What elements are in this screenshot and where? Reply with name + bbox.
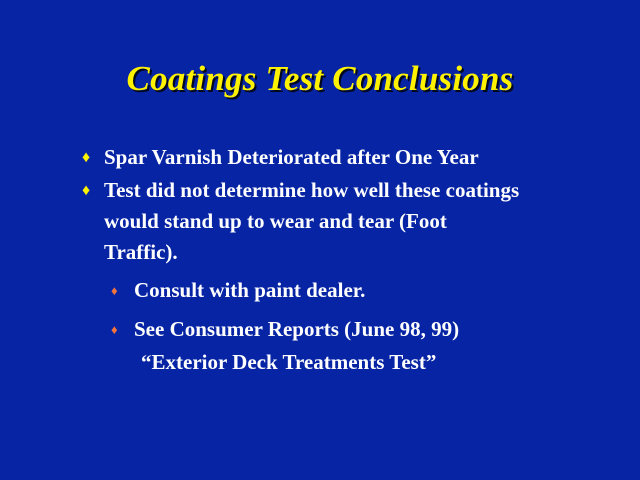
bullet-item-2: ♦ Test did not determine how well these … [78,175,588,268]
bullet-text-line: Spar Varnish Deteriorated after One Year [104,142,588,173]
diamond-bullet-icon: ♦ [82,175,90,206]
sub-bullet-text-line: See Consumer Reports (June 98, 99) [134,313,588,346]
slide-title: Coatings Test Conclusions [0,58,640,100]
sub-bullet-text-line: “Exterior Deck Treatments Test” [134,346,588,379]
diamond-sub-bullet-icon: ♦ [111,274,118,307]
presentation-slide: Coatings Test Conclusions ♦ Spar Varnish… [0,0,640,480]
sub-bullet-item-2: ♦ See Consumer Reports (June 98, 99) “Ex… [78,313,588,379]
slide-body: ♦ Spar Varnish Deteriorated after One Ye… [78,142,588,379]
sub-bullet-text-line: Consult with paint dealer. [134,274,588,307]
bullet-item-1: ♦ Spar Varnish Deteriorated after One Ye… [78,142,588,173]
sub-bullet-item-1: ♦ Consult with paint dealer. [78,274,588,307]
bullet-text-line: Test did not determine how well these co… [104,175,588,206]
diamond-bullet-icon: ♦ [82,142,90,173]
bullet-text-line: Traffic). [104,237,588,268]
diamond-sub-bullet-icon: ♦ [111,313,118,346]
bullet-text-line: would stand up to wear and tear (Foot [104,206,588,237]
